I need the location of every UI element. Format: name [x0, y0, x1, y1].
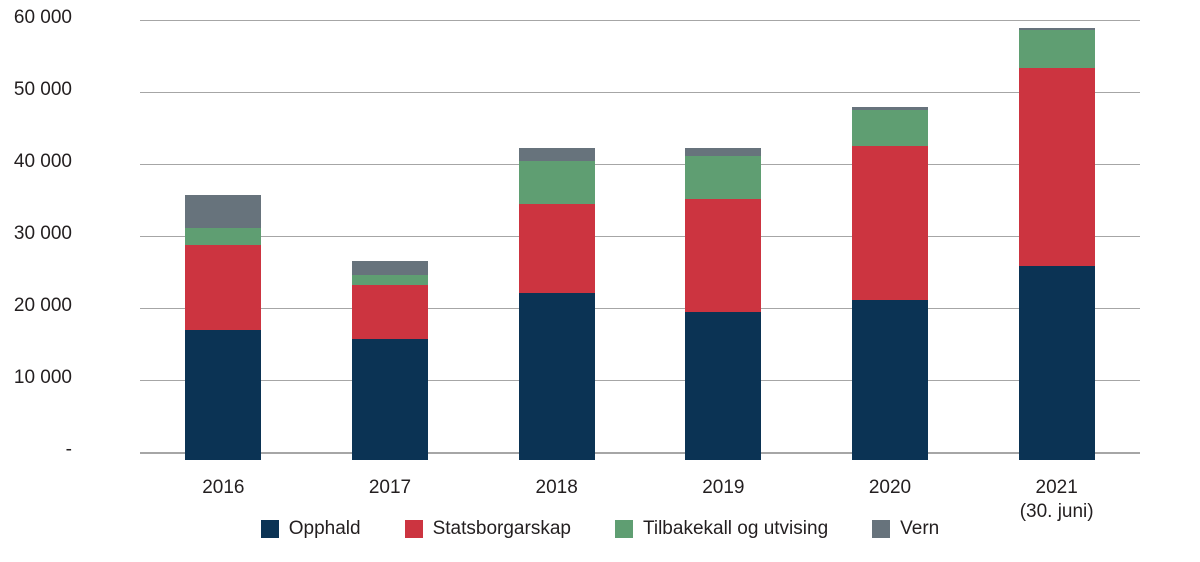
legend-item-vern[interactable]: Vern [872, 518, 939, 540]
gridline-60000 [140, 20, 1140, 21]
bar-group-2018[interactable] [519, 28, 595, 460]
x-tick-label-year: 2016 [202, 477, 244, 498]
bar-group-2021[interactable] [1019, 28, 1095, 460]
bar-segment-tilbakekall-og-utvising[interactable] [352, 275, 428, 285]
legend-item-tilbakekall-og-utvising[interactable]: Tilbakekall og utvising [615, 518, 828, 540]
bar-segment-statsborgarskap[interactable] [1019, 68, 1095, 266]
x-tick-label-2017: 2017 [300, 476, 480, 500]
legend-item-opphald[interactable]: Opphald [261, 518, 361, 540]
plot-area: -10 00020 00030 00040 00050 00060 000 20… [140, 20, 1140, 460]
gridline-10000 [140, 380, 1140, 381]
bar-segment-statsborgarskap[interactable] [685, 199, 761, 312]
bar-segment-tilbakekall-og-utvising[interactable] [685, 156, 761, 198]
y-tick-label-60000: 60 000 [0, 7, 72, 29]
legend-label: Tilbakekall og utvising [643, 518, 828, 540]
bar-segment-statsborgarskap[interactable] [852, 146, 928, 300]
bar-segment-tilbakekall-og-utvising[interactable] [185, 228, 261, 245]
bar-segment-tilbakekall-og-utvising[interactable] [1019, 30, 1095, 67]
bar-segment-opphald[interactable] [519, 293, 595, 460]
bar-segment-vern[interactable] [352, 261, 428, 275]
gridline-30000 [140, 236, 1140, 237]
y-tick-label-40000: 40 000 [0, 151, 72, 173]
bar-stack [685, 28, 761, 460]
legend-swatch-statsborgarskap [405, 520, 423, 538]
bar-group-2020[interactable] [852, 28, 928, 460]
y-tick-label-20000: 20 000 [0, 295, 72, 317]
chart-legend: OpphaldStatsborgarskapTilbakekall og utv… [0, 518, 1200, 540]
bar-stack [1019, 28, 1095, 460]
bar-segment-statsborgarskap[interactable] [352, 285, 428, 339]
x-tick-label-2021: 2021(30. juni) [967, 476, 1147, 524]
x-tick-label-2016: 2016 [133, 476, 313, 500]
bar-group-2019[interactable] [685, 28, 761, 460]
bar-segment-opphald[interactable] [185, 330, 261, 460]
x-tick-label-year: 2018 [536, 477, 578, 498]
stacked-bar-chart: Tal -10 00020 00030 00040 00050 00060 00… [0, 0, 1200, 562]
bar-segment-statsborgarskap[interactable] [185, 245, 261, 330]
legend-swatch-opphald [261, 520, 279, 538]
bar-segment-vern[interactable] [519, 148, 595, 161]
bar-segment-opphald[interactable] [1019, 266, 1095, 460]
bar-segment-vern[interactable] [685, 148, 761, 156]
x-tick-label-year: 2017 [369, 477, 411, 498]
y-tick-label-0: - [0, 439, 72, 461]
y-tick-label-10000: 10 000 [0, 367, 72, 389]
x-tick-label-2019: 2019 [633, 476, 813, 500]
legend-label: Statsborgarskap [433, 518, 571, 540]
bar-segment-vern[interactable] [852, 107, 928, 110]
bar-segment-opphald[interactable] [852, 300, 928, 460]
gridline-50000 [140, 92, 1140, 93]
x-tick-label-year: 2019 [702, 477, 744, 498]
y-tick-label-50000: 50 000 [0, 79, 72, 101]
legend-label: Opphald [289, 518, 361, 540]
bar-segment-tilbakekall-og-utvising[interactable] [519, 161, 595, 203]
bar-stack [185, 28, 261, 460]
bar-stack [852, 28, 928, 460]
bar-segment-opphald[interactable] [685, 312, 761, 460]
x-tick-label-year: 2021 [1036, 477, 1078, 498]
bar-stack [519, 28, 595, 460]
bar-segment-opphald[interactable] [352, 339, 428, 460]
bar-segment-vern[interactable] [1019, 28, 1095, 30]
x-tick-label-2018: 2018 [467, 476, 647, 500]
y-tick-label-30000: 30 000 [0, 223, 72, 245]
gridline-20000 [140, 308, 1140, 309]
bar-stack [352, 28, 428, 460]
bar-group-2017[interactable] [352, 28, 428, 460]
gridline-0 [140, 452, 1140, 454]
legend-swatch-tilbakekall [615, 520, 633, 538]
bar-segment-tilbakekall-og-utvising[interactable] [852, 110, 928, 146]
legend-item-statsborgarskap[interactable]: Statsborgarskap [405, 518, 571, 540]
x-tick-label-2020: 2020 [800, 476, 980, 500]
legend-label: Vern [900, 518, 939, 540]
bar-segment-statsborgarskap[interactable] [519, 204, 595, 294]
gridline-40000 [140, 164, 1140, 165]
x-tick-label-year: 2020 [869, 477, 911, 498]
bar-segment-vern[interactable] [185, 195, 261, 228]
bar-group-2016[interactable] [185, 28, 261, 460]
legend-swatch-vern [872, 520, 890, 538]
